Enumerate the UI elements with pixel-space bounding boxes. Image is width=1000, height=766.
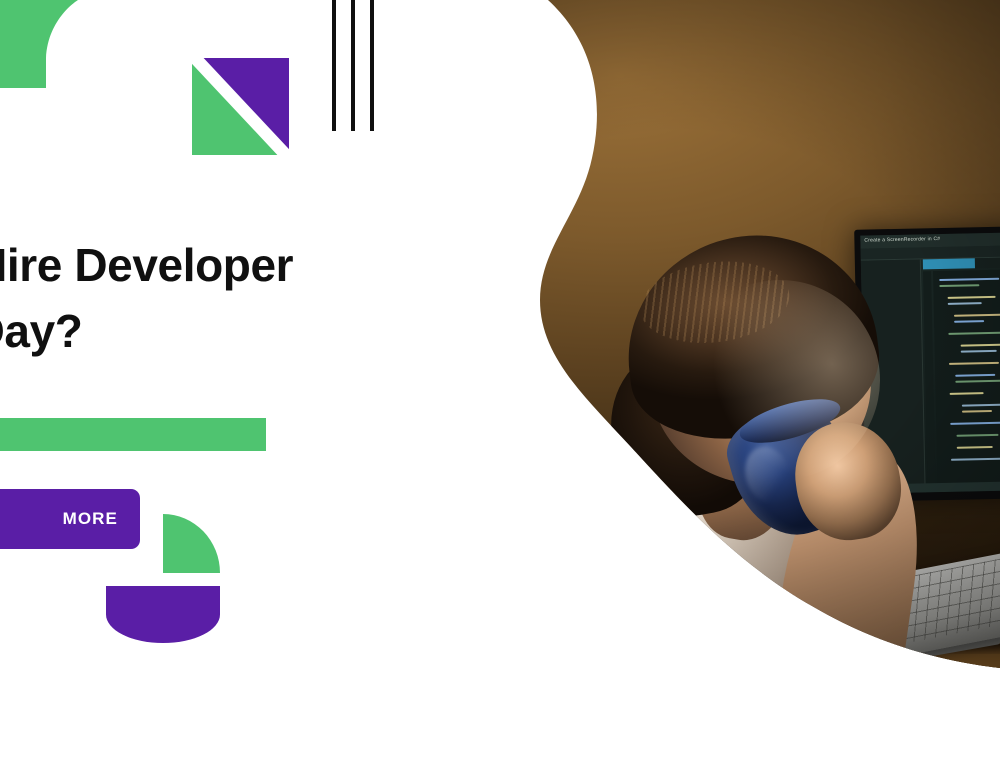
person: [530, 250, 950, 766]
hero-banner: Create a ScreenRecorder in C#: [0, 0, 1000, 766]
developer-photo: Create a ScreenRecorder in C#: [0, 0, 1000, 766]
quarter-circle-green-icon: [163, 514, 220, 573]
headline-line-1: o Hire Developer: [0, 232, 474, 298]
half-circle-purple-icon: [106, 586, 220, 643]
ide-title-text: Create a ScreenRecorder in C#: [864, 236, 940, 244]
desk-surface: [500, 636, 1000, 766]
green-accent-bar: [0, 418, 266, 451]
read-more-button[interactable]: MORE: [0, 489, 140, 549]
headline-line-2: e Day?: [0, 298, 474, 364]
hero-photo-region: Create a ScreenRecorder in C#: [0, 0, 1000, 766]
vertical-lines-icon: [332, 0, 376, 131]
vertical-line-1: [332, 0, 336, 131]
split-square-icon: [192, 58, 289, 155]
vertical-line-3: [370, 0, 374, 131]
vertical-line-2: [351, 0, 355, 131]
page-title: o Hire Developer e Day?: [0, 232, 474, 364]
arc-top-left-green-icon: [0, 0, 78, 88]
